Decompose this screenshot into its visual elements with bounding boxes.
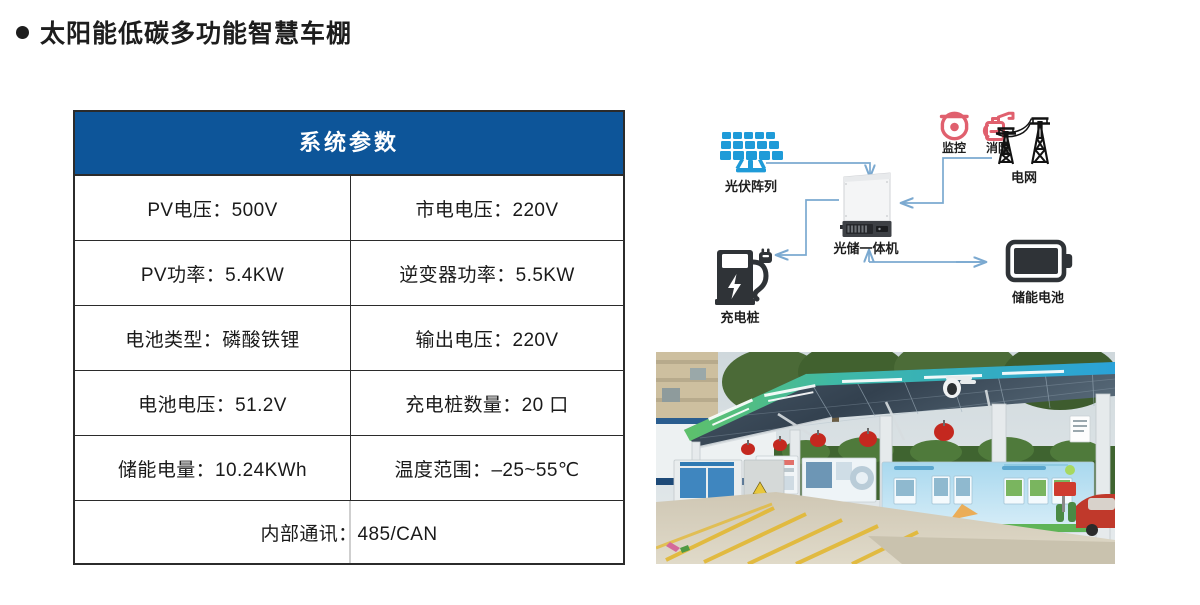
connector-grid-to-inverter <box>901 158 992 203</box>
table-cell: 温度范围：–25~55℃ <box>351 436 623 500</box>
connector-pv-to-inverter <box>766 163 870 177</box>
table-cell: PV功率：5.4KW <box>75 241 351 305</box>
security-camera-icon: 监控 <box>942 113 968 155</box>
table-cell: 输出电压：220V <box>351 306 623 370</box>
filled-circle-bullet-icon <box>16 26 29 39</box>
table-header: 系统参数 <box>75 112 623 176</box>
storage-battery-icon: 储能电池 <box>1008 242 1072 305</box>
page-title: 太阳能低碳多功能智慧车棚 <box>16 14 352 50</box>
table-row: PV电压：500V 市电电压：220V <box>75 176 623 241</box>
table-row: 电池电压：51.2V 充电桩数量：20 口 <box>75 371 623 436</box>
inverter-label: 光储一体机 <box>832 241 898 256</box>
table-cell: 逆变器功率：5.5KW <box>351 241 623 305</box>
table-cell: PV电压：500V <box>75 176 351 240</box>
table-cell: 电池类型：磷酸铁锂 <box>75 306 351 370</box>
solar-carport-site-photo <box>656 352 1115 564</box>
system-parameter-table: 系统参数 PV电压：500V 市电电压：220V PV功率：5.4KW 逆变器功… <box>73 110 625 565</box>
table-row: 内部通讯：485/CAN <box>75 501 623 563</box>
grid-label: 电网 <box>1011 170 1037 185</box>
table-row: 电池类型：磷酸铁锂 输出电压：220V <box>75 306 623 371</box>
power-tower-icon: 电网 <box>996 119 1050 186</box>
hybrid-inverter-icon: 光储一体机 <box>832 173 898 256</box>
table-cell: 市电电压：220V <box>351 176 623 240</box>
table-cell: 电池电压：51.2V <box>75 371 351 435</box>
table-row: 储能电量：10.24KWh 温度范围：–25~55℃ <box>75 436 623 501</box>
monitoring-label: 监控 <box>942 140 966 155</box>
table-cell: 储能电量：10.24KWh <box>75 436 351 500</box>
table-cell: 充电桩数量：20 口 <box>351 371 623 435</box>
charger-label: 充电桩 <box>720 310 759 325</box>
table-row: PV功率：5.4KW 逆变器功率：5.5KW <box>75 241 623 306</box>
system-architecture-diagram: 光伏阵列 监控 消防 <box>656 100 1124 340</box>
page-title-text: 太阳能低碳多功能智慧车棚 <box>40 14 352 50</box>
battery-label: 储能电池 <box>1011 290 1064 305</box>
connector-inverter-to-charger <box>776 200 839 255</box>
ev-charger-icon: 充电桩 <box>715 249 772 326</box>
pv-array-label: 光伏阵列 <box>724 179 777 194</box>
column-divider-stub <box>349 501 351 563</box>
